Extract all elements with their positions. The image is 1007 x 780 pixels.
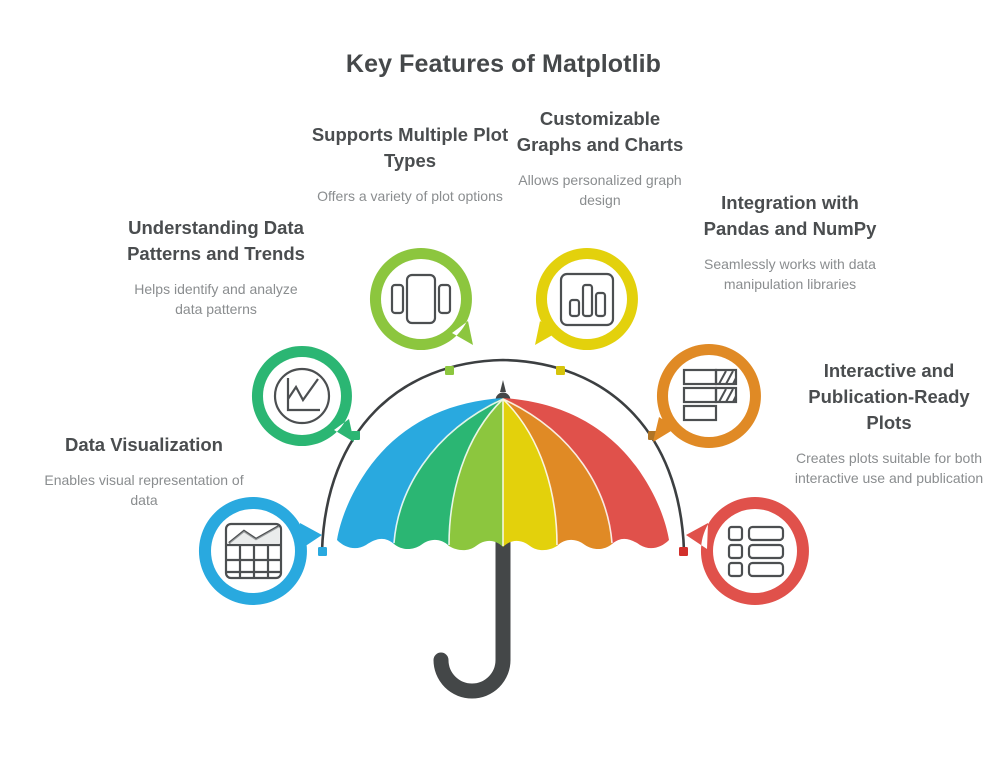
umbrella-illustration [337,380,669,691]
bubble-inner-yellow [547,259,627,339]
feature-body: Allows personalized graph design [512,171,688,210]
feature-text-integration-pandas-numpy: Integration with Pandas and NumPy Seamle… [692,190,888,294]
feature-icon-supports-multiple-plot-types[interactable] [370,248,473,350]
feature-body: Seamlessly works with data manipulation … [692,255,888,294]
umbrella-tip [500,380,506,392]
feature-body: Enables visual representation of data [40,471,248,510]
arc-dot-interactive-publication-ready [679,547,688,556]
bubble-inner-orange [668,355,750,437]
feature-body: Offers a variety of plot options [310,187,510,207]
feature-text-understanding-data-patterns: Understanding Data Patterns and Trends H… [123,215,309,319]
feature-icon-data-visualization[interactable] [199,497,322,605]
feature-icon-integration-pandas-numpy[interactable] [653,344,761,448]
arc-dot-supports-multiple-plot-types [445,366,454,375]
feature-icon-understanding-data-patterns[interactable] [252,346,354,446]
feature-text-interactive-publication-ready: Interactive and Publication-Ready Plots … [790,358,988,488]
feature-icon-interactive-publication-ready[interactable] [686,497,809,605]
arc-dot-data-visualization [318,547,327,556]
feature-icon-customizable-graphs-and-charts[interactable] [535,248,638,350]
infographic-canvas: Key Features of Matplotlib [0,0,1007,780]
arc-dot-customizable-graphs-and-charts [556,366,565,375]
feature-heading: Supports Multiple Plot Types [310,122,510,174]
feature-heading: Interactive and Publication-Ready Plots [790,358,988,436]
feature-text-customizable-graphs-and-charts: Customizable Graphs and Charts Allows pe… [512,106,688,210]
feature-text-supports-multiple-plot-types: Supports Multiple Plot Types Offers a va… [310,122,510,207]
feature-heading: Understanding Data Patterns and Trends [123,215,309,267]
feature-body: Helps identify and analyze data patterns [123,280,309,319]
umbrella-canopy [337,398,669,550]
bubble-inner-red [713,509,797,593]
feature-text-data-visualization: Data Visualization Enables visual repres… [40,432,248,510]
feature-body: Creates plots suitable for both interact… [790,449,988,488]
feature-heading: Customizable Graphs and Charts [512,106,688,158]
feature-heading: Data Visualization [40,432,248,458]
feature-heading: Integration with Pandas and NumPy [692,190,888,242]
